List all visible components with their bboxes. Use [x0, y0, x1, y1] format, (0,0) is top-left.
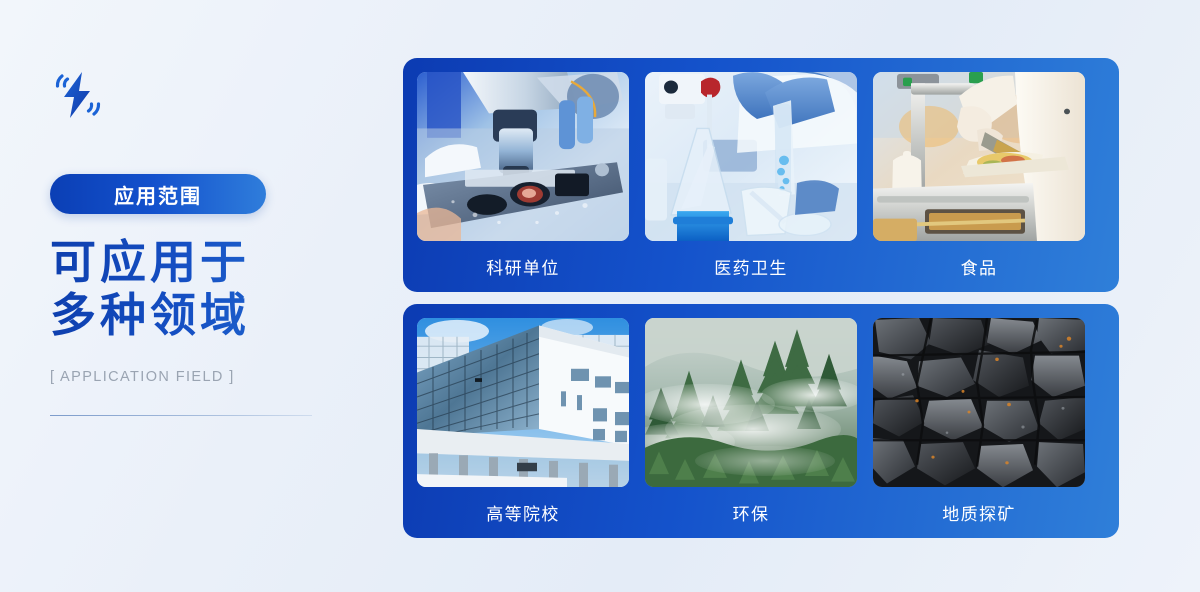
coal-rocks-photo	[873, 318, 1085, 487]
microscope-photo	[417, 72, 629, 241]
chef-serving-food-photo	[873, 72, 1085, 241]
card-food[interactable]: 食品	[873, 72, 1085, 292]
application-panels: 科研单位	[403, 58, 1119, 538]
card-label: 高等院校	[417, 487, 629, 538]
card-label: 环保	[645, 487, 857, 538]
card-label: 地质探矿	[873, 487, 1085, 538]
card-laboratory[interactable]: 医药卫生	[645, 72, 857, 292]
section-badge: 应用范围	[50, 174, 266, 214]
card-university[interactable]: 高等院校	[417, 318, 629, 538]
panel-row-2: 高等院校	[403, 304, 1119, 538]
lightning-signal-icon	[50, 70, 106, 120]
page-title-line-1: 可应用于	[50, 236, 380, 289]
laboratory-glassware-photo	[645, 72, 857, 241]
divider	[50, 415, 312, 416]
card-environment[interactable]: 环保	[645, 318, 857, 538]
card-microscope[interactable]: 科研单位	[417, 72, 629, 292]
panel-row-1: 科研单位	[403, 58, 1119, 292]
card-geology[interactable]: 地质探矿	[873, 318, 1085, 538]
page-subtitle: [ APPLICATION FIELD ]	[50, 369, 380, 385]
card-label: 食品	[873, 241, 1085, 292]
page-title-line-2: 多种领域	[50, 289, 380, 342]
left-content-column: 应用范围 可应用于 多种领域 [ APPLICATION FIELD ]	[50, 70, 380, 416]
misty-forest-photo	[645, 318, 857, 487]
application-field-banner: 应用范围 可应用于 多种领域 [ APPLICATION FIELD ]	[0, 0, 1200, 592]
university-building-photo	[417, 318, 629, 487]
card-label: 科研单位	[417, 241, 629, 292]
card-label: 医药卫生	[645, 241, 857, 292]
section-badge-label: 应用范围	[114, 180, 202, 209]
page-title: 可应用于 多种领域	[50, 236, 380, 343]
